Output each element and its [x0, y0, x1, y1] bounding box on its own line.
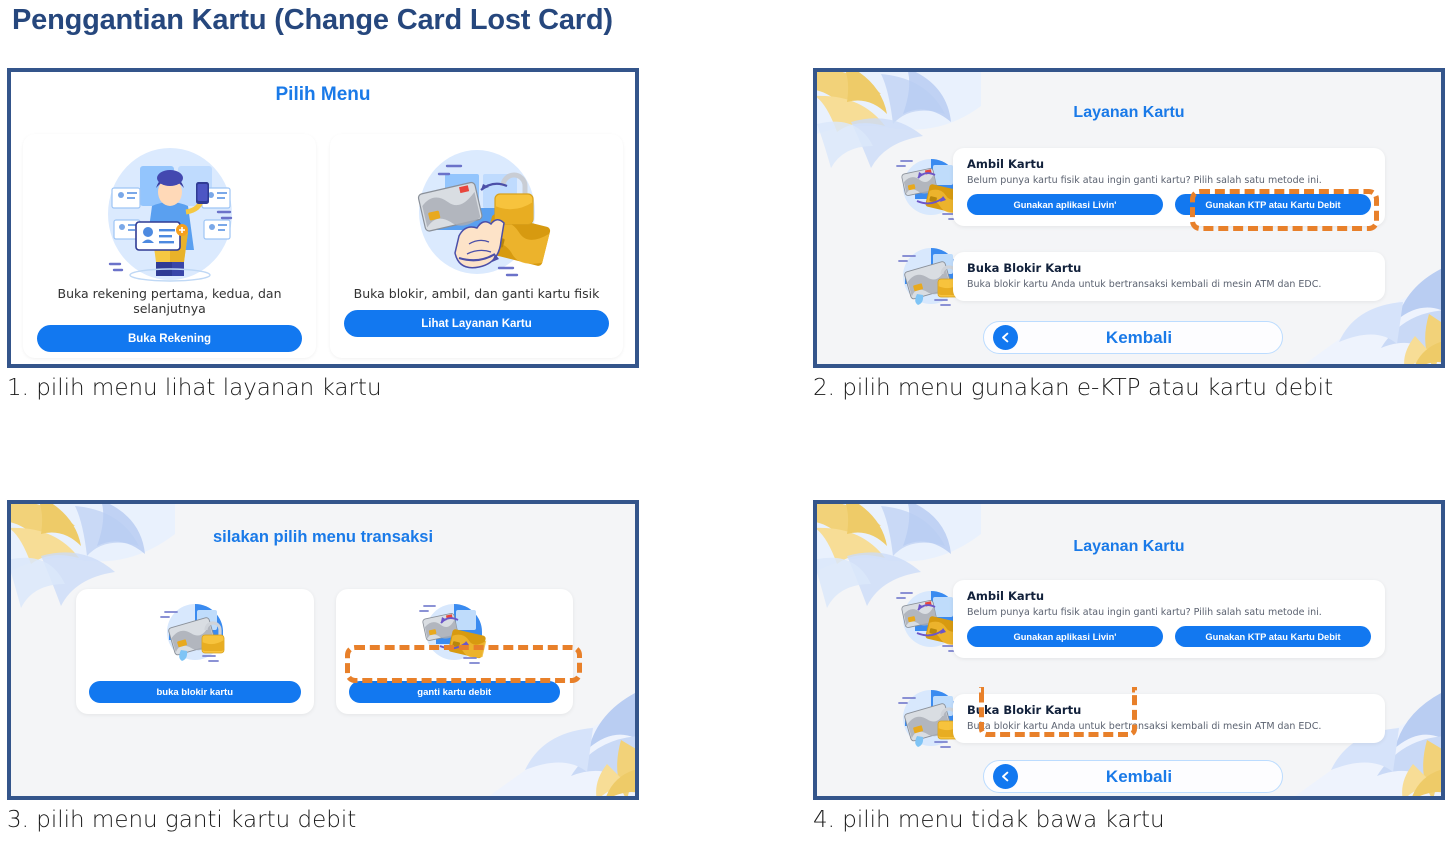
page-title: Penggantian Kartu (Change Card Lost Card…: [12, 4, 613, 37]
screen-title: silakan pilih menu transaksi: [11, 528, 635, 547]
service-card-body: Buka blokir kartu Anda untuk bertransaks…: [967, 721, 1371, 732]
kembali-label: Kembali: [996, 328, 1282, 348]
buka-blokir-kartu-button[interactable]: buka blokir kartu: [89, 681, 301, 703]
service-card-buka-blokir-kartu[interactable]: Buka Blokir Kartu Buka blokir kartu Anda…: [953, 252, 1385, 301]
kembali-label: Kembali: [996, 767, 1282, 787]
transaction-card-buka-blokir-kartu[interactable]: buka blokir kartu: [76, 589, 314, 714]
transaction-menu-card-list: buka blokir kartu: [76, 589, 573, 714]
step-2: Layanan Kartu: [813, 68, 1445, 401]
step-3-caption: 3. pilih menu ganti kartu debit: [7, 807, 639, 833]
service-card-ambil-kartu[interactable]: Ambil Kartu Belum punya kartu fisik atau…: [953, 148, 1385, 226]
gunakan-aplikasi-livin-button[interactable]: Gunakan aplikasi Livin': [967, 194, 1163, 215]
service-card-heading: Ambil Kartu: [967, 589, 1371, 603]
step-4: Layanan Kartu: [813, 500, 1445, 833]
lihat-layanan-kartu-button[interactable]: Lihat Layanan Kartu: [344, 310, 609, 337]
service-card-body: Belum punya kartu fisik atau ingin ganti…: [967, 175, 1371, 186]
card-swap-icon: [406, 598, 502, 670]
service-card-actions: Gunakan aplikasi Livin' Gunakan KTP atau…: [967, 626, 1371, 647]
service-row-ambil-kartu: Ambil Kartu Belum punya kartu fisik atau…: [895, 580, 1385, 658]
service-card-heading: Buka Blokir Kartu: [967, 261, 1371, 275]
service-card-buka-blokir-kartu[interactable]: Buka Blokir Kartu Buka blokir kartu Anda…: [953, 694, 1385, 743]
card-lock-icon: [147, 598, 243, 670]
menu-card-list: Buka rekening pertama, kedua, dan selanj…: [23, 134, 623, 358]
gunakan-ktp-atau-kartu-debit-button[interactable]: Gunakan KTP atau Kartu Debit: [1175, 194, 1371, 215]
step-4-caption: 4. pilih menu tidak bawa kartu: [813, 807, 1445, 833]
service-row-ambil-kartu: Ambil Kartu Belum punya kartu fisik atau…: [895, 148, 1385, 226]
step-1-caption: 1. pilih menu lihat layanan kartu: [7, 375, 639, 401]
screen-title: Pilih Menu: [11, 84, 635, 106]
screen-title: Layanan Kartu: [817, 104, 1441, 122]
service-row-buka-blokir-kartu: Buka Blokir Kartu Buka blokir kartu Anda…: [895, 682, 1385, 754]
officer-with-id-card-illustration: [70, 144, 270, 284]
menu-card-description: Buka rekening pertama, kedua, dan selanj…: [37, 286, 302, 316]
step-3-panel: silakan pilih menu transaksi: [7, 500, 639, 800]
step-1: Pilih Menu: [7, 68, 639, 401]
step-4-panel: Layanan Kartu: [813, 500, 1445, 800]
service-card-heading: Ambil Kartu: [967, 157, 1371, 171]
kembali-button[interactable]: Kembali: [983, 760, 1283, 793]
gunakan-aplikasi-livin-button[interactable]: Gunakan aplikasi Livin': [967, 626, 1163, 647]
kembali-button[interactable]: Kembali: [983, 321, 1283, 354]
step-2-caption: 2. pilih menu gunakan e-KTP atau kartu d…: [813, 375, 1445, 401]
hand-holding-cards-with-padlock-illustration: [377, 144, 577, 284]
buka-rekening-button[interactable]: Buka Rekening: [37, 325, 302, 352]
step-1-panel: Pilih Menu: [7, 68, 639, 368]
screen-title: Layanan Kartu: [817, 538, 1441, 556]
service-card-body: Belum punya kartu fisik atau ingin ganti…: [967, 607, 1371, 618]
service-card-actions: Gunakan aplikasi Livin' Gunakan KTP atau…: [967, 194, 1371, 215]
menu-card-description: Buka blokir, ambil, dan ganti kartu fisi…: [354, 286, 600, 301]
service-card-body: Buka blokir kartu Anda untuk bertransaks…: [967, 279, 1371, 290]
service-row-buka-blokir-kartu: Buka Blokir Kartu Buka blokir kartu Anda…: [895, 240, 1385, 312]
menu-card-buka-rekening[interactable]: Buka rekening pertama, kedua, dan selanj…: [23, 134, 316, 358]
gunakan-ktp-atau-kartu-debit-button[interactable]: Gunakan KTP atau Kartu Debit: [1175, 626, 1371, 647]
service-card-ambil-kartu[interactable]: Ambil Kartu Belum punya kartu fisik atau…: [953, 580, 1385, 658]
menu-card-layanan-kartu[interactable]: Buka blokir, ambil, dan ganti kartu fisi…: [330, 134, 623, 358]
page-root: Penggantian Kartu (Change Card Lost Card…: [0, 0, 1451, 868]
step-2-panel: Layanan Kartu: [813, 68, 1445, 368]
service-card-heading: Buka Blokir Kartu: [967, 703, 1371, 717]
ganti-kartu-debit-button[interactable]: ganti kartu debit: [349, 681, 561, 703]
transaction-card-ganti-kartu-debit[interactable]: ganti kartu debit: [336, 589, 574, 714]
step-3: silakan pilih menu transaksi: [7, 500, 639, 833]
